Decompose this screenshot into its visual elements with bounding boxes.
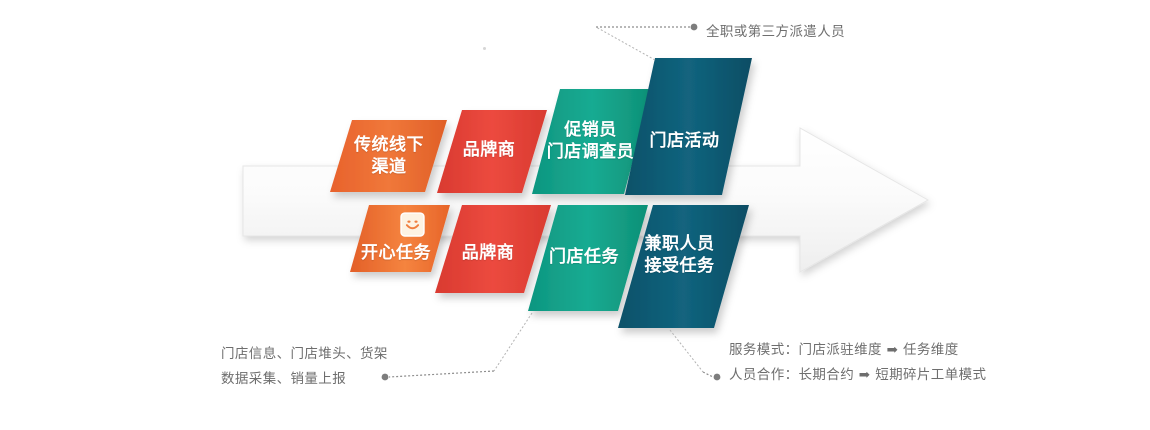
smiley-face-icon [400,212,425,237]
annotation-top-right: 全职或第三方派遣人员 [706,20,845,45]
annotation-bottom-left: 门店信息、门店堆头、货架 数据采集、销量上报 [221,342,388,392]
stray-speck [483,47,486,50]
leader-line-bottom-right [670,330,720,380]
leader-line-top-right [596,24,697,60]
diagram-canvas: 传统线下 渠道 品牌商 促销员 门店调查员 门店活动 开心任务 品牌商 门店任务… [0,0,1150,430]
annotation-bottom-right: 服务模式：门店派驻维度 ➡ 任务维度 人员合作：长期合约 ➡ 短期碎片工单模式 [729,338,986,388]
leader-line-bottom-left [382,313,532,380]
